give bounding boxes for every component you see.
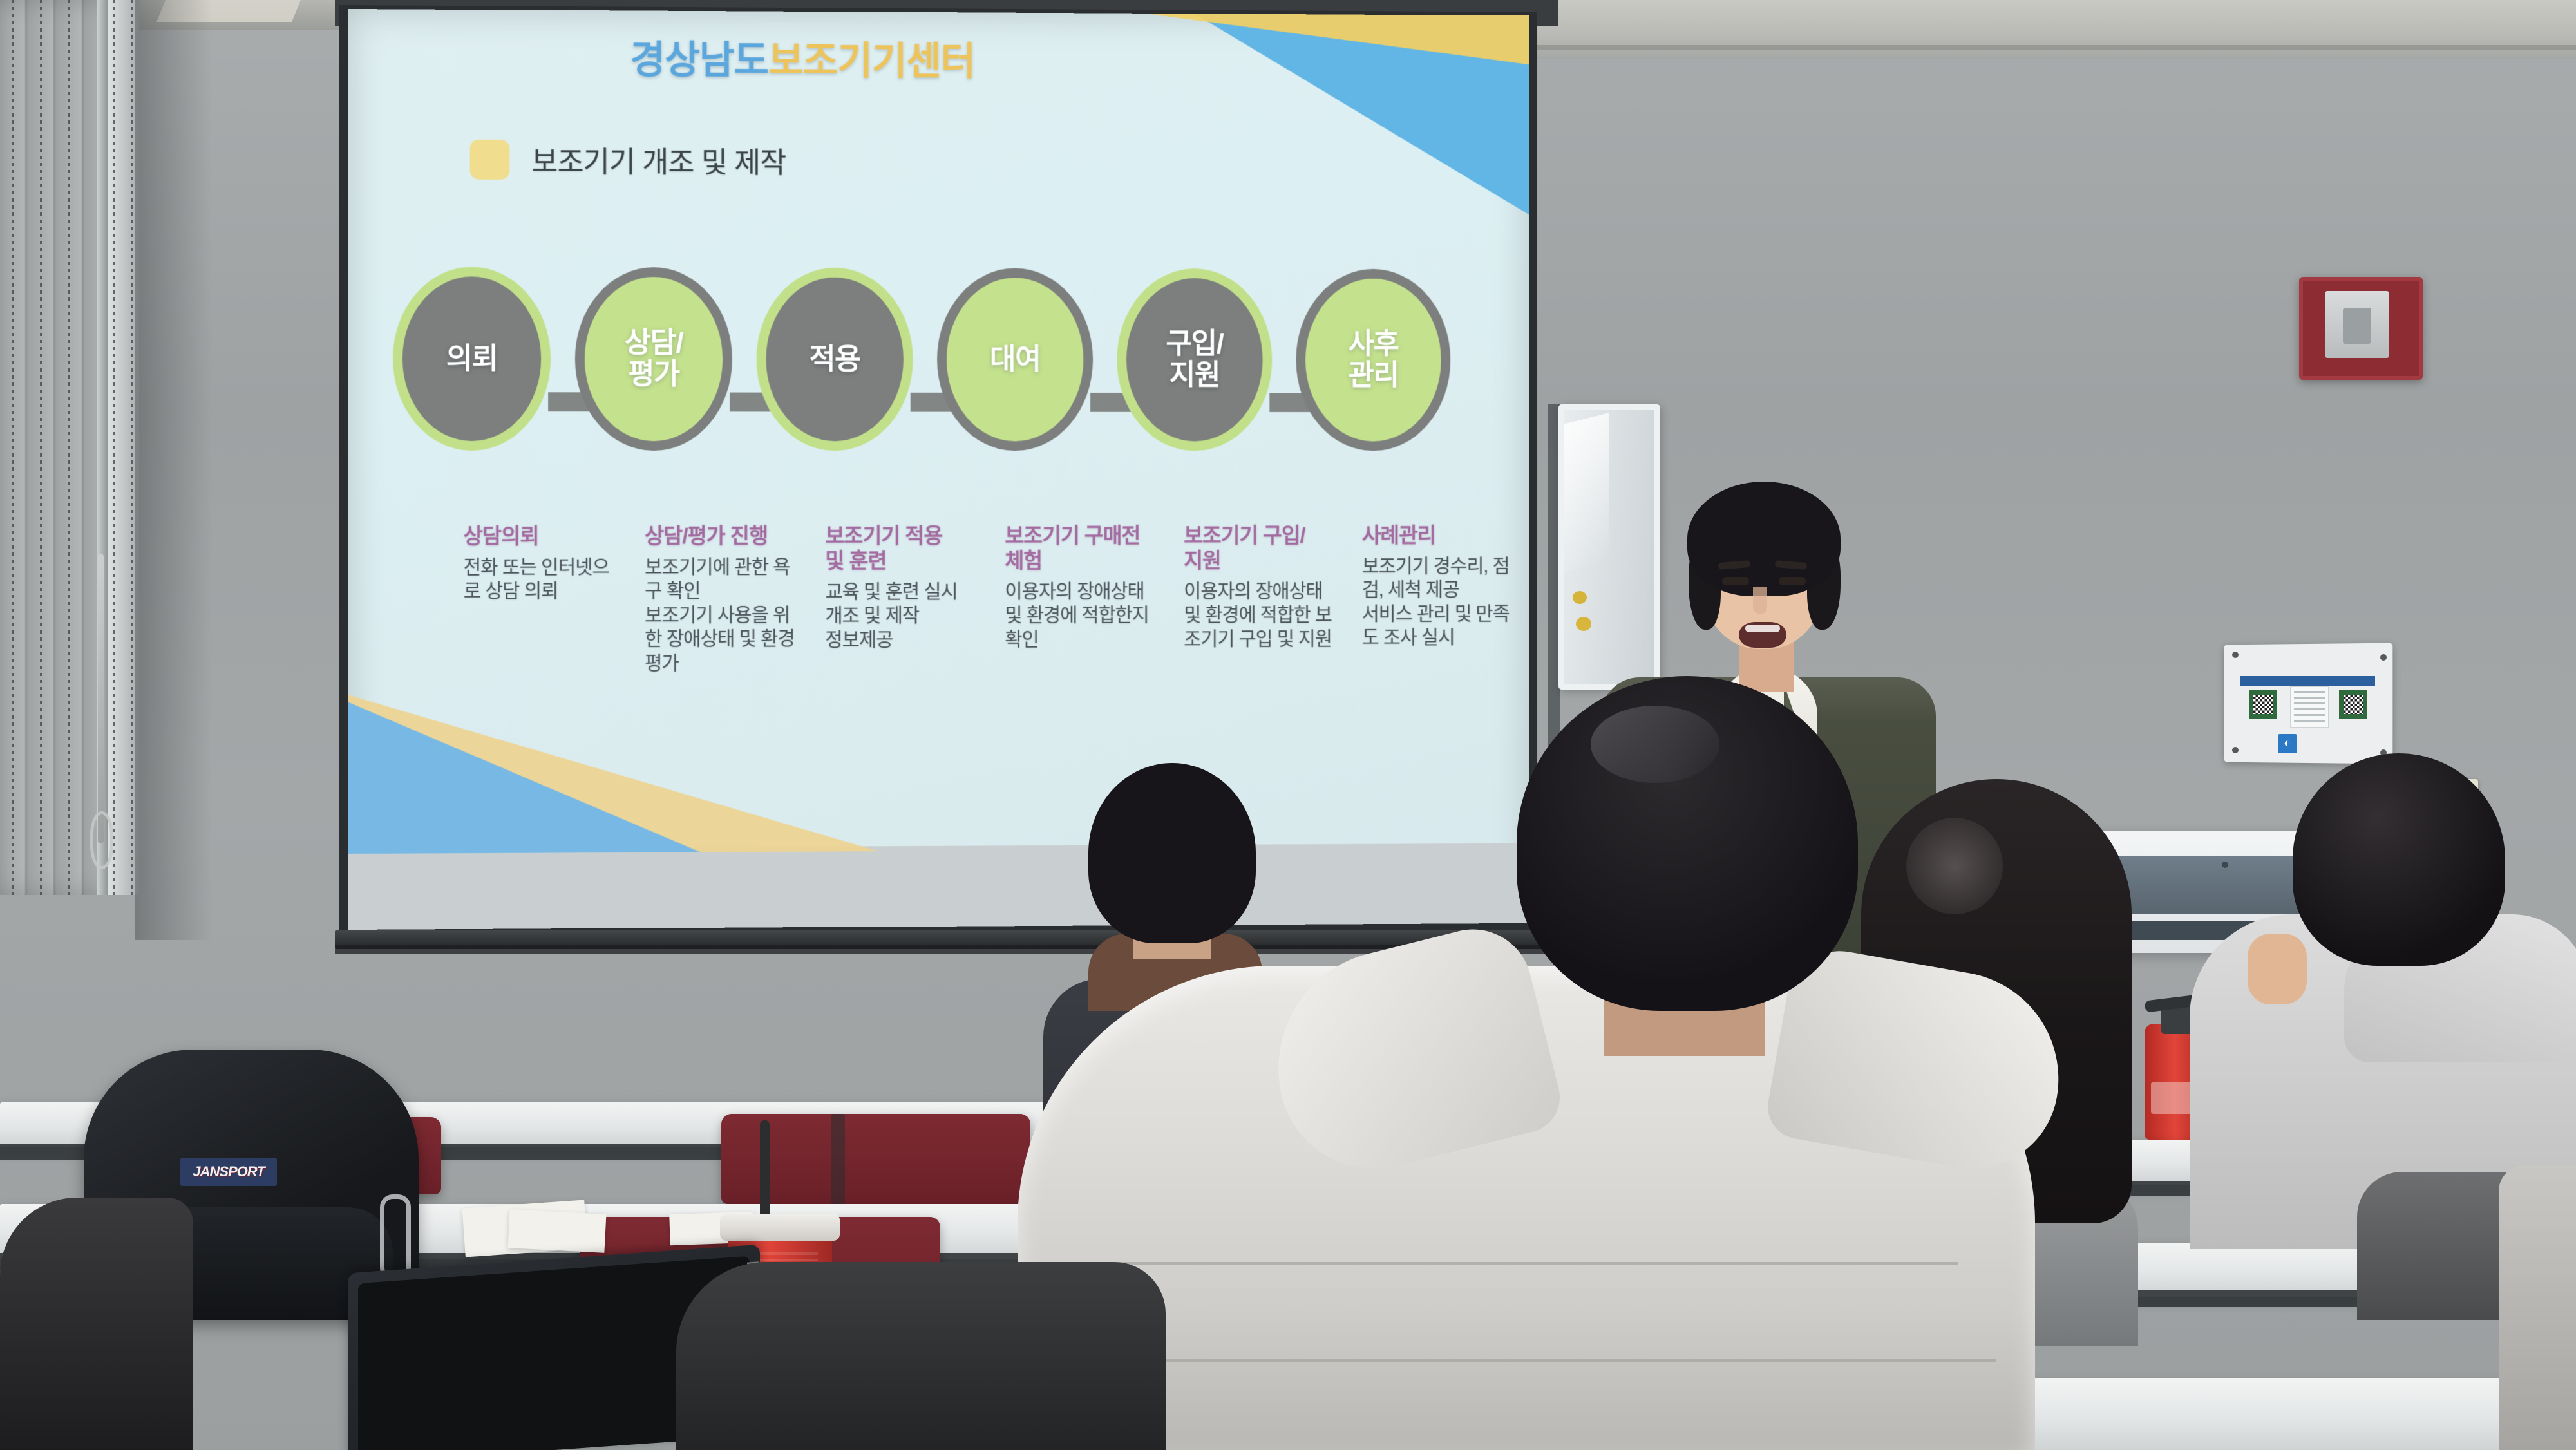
- flow-node-label: 상담/ 평가: [625, 328, 683, 390]
- slide-subtitle-row: 보조기기 개조 및 제작: [470, 138, 786, 182]
- slide-subtitle: 보조기기 개조 및 제작: [531, 138, 786, 181]
- classroom-photo-scene: 경상남도보조기기센터 보조기기 개조 및 제작 의뢰 상담/ 평가 적용 대여 …: [0, 0, 2576, 1450]
- placard-text-block: [2290, 686, 2329, 728]
- cup-lid: [720, 1214, 840, 1241]
- ac-led-icon: [2222, 862, 2228, 868]
- flow-node-sangdam-pyeongga: 상담/ 평가: [575, 267, 732, 451]
- flow-node-sahu-gwalli: 사후 관리: [1296, 269, 1450, 451]
- column-heading: 상담의뢰: [464, 524, 629, 549]
- column-body: 전화 또는 인터넷으 로 상담 의뢰: [464, 555, 629, 603]
- slide-description-columns: 상담의뢰 전화 또는 인터넷으 로 상담 의뢰 상담/평가 진행 보조기기에 관…: [464, 523, 1529, 676]
- blind-slat-seam: [131, 0, 133, 895]
- square-bullet-icon: [470, 139, 510, 179]
- student-far-right-body: [2499, 1165, 2576, 1450]
- column-heading: 사례관리: [1362, 523, 1523, 549]
- description-column: 보조기기 구입/ 지원 이용자의 장애상태 및 환경에 적합한 보 조기기 구입…: [1184, 523, 1362, 674]
- foreground-dark-shape-left: [0, 1198, 193, 1450]
- presenter-nose: [1753, 587, 1767, 614]
- slide-title: 경상남도보조기기센터: [630, 28, 975, 86]
- column-body: 이용자의 장애상태 및 환경에 적합한지 확인: [1005, 579, 1167, 652]
- description-column: 보조기기 적용 및 훈련 교육 및 훈련 실시 개조 및 제작 정보제공: [825, 523, 1005, 675]
- blind-slat-seam: [40, 0, 42, 895]
- chair-gap: [831, 1114, 845, 1204]
- slide-title-region: 경상남도: [630, 38, 768, 82]
- student-brown-collar-hair: [1088, 763, 1256, 943]
- qr-code-icon: [2249, 690, 2277, 719]
- wifi-icon: ◐: [2278, 734, 2297, 753]
- qr-code-icon: [2339, 690, 2367, 719]
- blind-slat-seam: [12, 0, 14, 895]
- whiteboard-magnet-icon: [1576, 617, 1591, 631]
- blind-slat-seam: [113, 0, 115, 895]
- flow-node-daeyeo: 대여: [937, 268, 1093, 451]
- presenter-hair: [1687, 482, 1841, 596]
- flow-node-uiroe: 의뢰: [393, 267, 551, 451]
- flow-node-guip-jiwon: 구입/ 지원: [1117, 268, 1272, 451]
- student-gray-hoodie-hand: [2248, 934, 2307, 1004]
- projection-screen: 경상남도보조기기센터 보조기기 개조 및 제작 의뢰 상담/ 평가 적용 대여 …: [348, 9, 1529, 930]
- column-body: 이용자의 장애상태 및 환경에 적합한 보 조기기 구입 및 지원: [1184, 579, 1345, 652]
- foreground-dark-jacket: [676, 1262, 1166, 1450]
- description-column: 상담의뢰 전화 또는 인터넷으 로 상담 의뢰: [464, 524, 645, 676]
- whiteboard-glare: [1564, 413, 1609, 572]
- column-heading: 보조기기 구매전 체험: [1005, 523, 1167, 573]
- flow-node-label: 의뢰: [446, 343, 498, 375]
- screw-icon: [2380, 654, 2387, 661]
- whiteboard-magnet-icon: [1573, 591, 1587, 604]
- screw-icon: [2232, 652, 2239, 658]
- column-body: 보조기기에 관한 욕 구 확인 보조기기 사용을 위 한 장애상태 및 환경 평…: [645, 555, 809, 675]
- description-column: 사례관리 보조기기 경수리, 점 검, 세척 제공 서비스 관리 및 만족 도 …: [1362, 523, 1529, 674]
- puffer-seam: [1056, 1359, 1996, 1362]
- column-body: 교육 및 훈련 실시 개조 및 제작 정보제공: [825, 580, 988, 652]
- column-heading: 상담/평가 진행: [645, 524, 809, 549]
- flow-node-label: 적용: [810, 344, 860, 375]
- column-heading: 보조기기 적용 및 훈련: [825, 523, 988, 574]
- flow-node-jeogyong: 적용: [757, 268, 913, 451]
- blind-cord-loop[interactable]: [90, 811, 113, 869]
- placard-header-bar: [2240, 676, 2375, 686]
- description-column: 보조기기 구매전 체험 이용자의 장애상태 및 환경에 적합한지 확인: [1005, 523, 1184, 675]
- slide-footer-band: [348, 843, 1529, 930]
- flow-node-label: 사후 관리: [1349, 329, 1399, 391]
- description-column: 상담/평가 진행 보조기기에 관한 욕 구 확인 보조기기 사용을 위 한 장애…: [645, 524, 825, 676]
- presenter-eye-right: [1779, 577, 1806, 585]
- desk-row-front: [2016, 1378, 2576, 1450]
- puffer-seam: [1095, 1262, 1958, 1265]
- wall-shadow: [135, 0, 213, 940]
- backpack-strap-loop: [380, 1194, 411, 1281]
- presenter-mouth: [1739, 622, 1786, 648]
- hair-highlight: [1591, 706, 1719, 783]
- column-heading: 보조기기 구입/ 지원: [1184, 523, 1345, 573]
- backpack-brand-patch: JANSPORT: [180, 1158, 277, 1186]
- presenter-eye-left: [1722, 577, 1749, 585]
- flow-node-label: 대여: [990, 344, 1041, 375]
- blind-cord[interactable]: [98, 554, 104, 843]
- backpack-brand-text: JANSPORT: [193, 1163, 264, 1180]
- paper-sheet: [508, 1209, 607, 1253]
- process-flow-diagram: 의뢰 상담/ 평가 적용 대여 구입/ 지원 사후 관리: [348, 267, 1529, 460]
- slide-title-center: 보조기기센터: [768, 39, 975, 82]
- flow-node-label: 구입/ 지원: [1166, 329, 1223, 391]
- hair-highlight: [1906, 818, 2003, 914]
- screw-icon: [2232, 747, 2239, 753]
- student-gray-hoodie-hair: [2293, 753, 2505, 966]
- column-body: 보조기기 경수리, 점 검, 세척 제공 서비스 관리 및 만족 도 조사 실시: [1362, 554, 1523, 650]
- blind-slat-seam: [68, 0, 70, 895]
- fire-alarm-button[interactable]: [2343, 308, 2371, 344]
